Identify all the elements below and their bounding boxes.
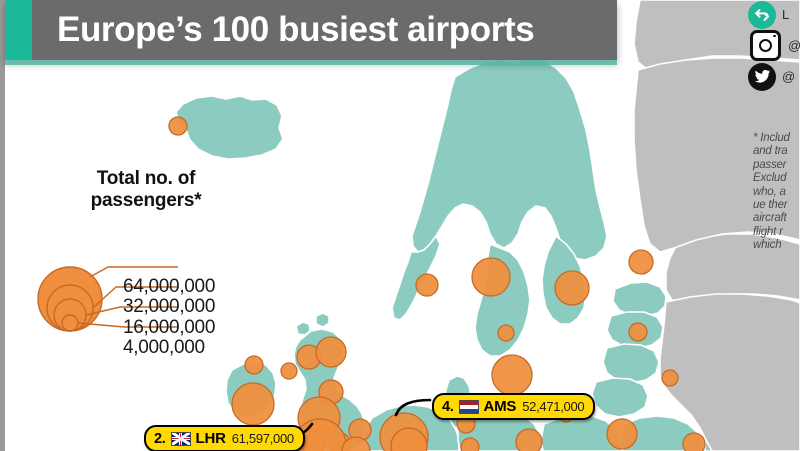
footnote-line: ue ther bbox=[753, 199, 800, 212]
footnote-line: who, a bbox=[753, 186, 800, 199]
legend-value: 4,000,000 bbox=[123, 338, 283, 359]
nl-flag-icon bbox=[459, 400, 479, 414]
social-label: @ bbox=[788, 38, 800, 53]
callout-passengers: 61,597,000 bbox=[232, 431, 294, 446]
footnote-line: passer bbox=[753, 159, 800, 172]
page-edge-strip bbox=[0, 0, 5, 451]
callout-passengers: 52,471,000 bbox=[522, 399, 584, 414]
title-banner: Europe’s 100 busiest airports bbox=[5, 0, 617, 60]
footnote-line: and tra bbox=[753, 145, 800, 158]
callout-rank: 2. bbox=[154, 431, 166, 447]
instagram-icon bbox=[750, 30, 781, 61]
legend-title: Total no. of passengers* bbox=[56, 168, 236, 213]
title-underline bbox=[5, 60, 617, 65]
footnote-line: Exclud bbox=[753, 172, 800, 185]
legend-title-line2: passengers* bbox=[56, 190, 236, 212]
share-globe-icon bbox=[748, 1, 776, 29]
legend-value: 32,000,000 bbox=[123, 297, 283, 318]
legend-value-list: 64,000,000 32,000,000 16,000,000 4,000,0… bbox=[123, 277, 283, 359]
footnote-line: aircraft bbox=[753, 212, 800, 225]
social-label: L bbox=[782, 7, 789, 22]
infographic-canvas: .land { fill: #8ccbc0; stroke: #ffffff; … bbox=[0, 0, 800, 451]
legend-title-line1: Total no. of bbox=[56, 168, 236, 190]
legend-value: 64,000,000 bbox=[123, 277, 283, 298]
footnote-line: which bbox=[753, 239, 800, 252]
footnote: * Includ and tra passer Exclud who, a ue… bbox=[753, 132, 800, 253]
legend: Total no. of passengers* 64,000,000 32,0… bbox=[28, 168, 278, 341]
callout-airport-code: LHR bbox=[196, 430, 226, 447]
footnote-line: flight r bbox=[753, 226, 800, 239]
footnote-line: * Includ bbox=[753, 132, 800, 145]
uk-flag-icon bbox=[171, 432, 191, 446]
social-label: @ bbox=[782, 69, 795, 84]
title-accent-bar bbox=[5, 0, 32, 60]
social-link-share[interactable]: L bbox=[748, 0, 800, 29]
callout-rank: 4. bbox=[442, 399, 454, 415]
callout-airport-code: AMS bbox=[484, 398, 517, 415]
social-link-twitter[interactable]: @ bbox=[748, 62, 800, 91]
social-link-instagram[interactable]: @ bbox=[748, 31, 800, 60]
legend-value: 16,000,000 bbox=[123, 318, 283, 339]
page-title: Europe’s 100 busiest airports bbox=[32, 10, 534, 50]
social-links: L @ @ bbox=[748, 0, 800, 93]
legend-bubble-scale: 64,000,000 32,000,000 16,000,000 4,000,0… bbox=[28, 221, 278, 341]
twitter-icon bbox=[748, 63, 776, 91]
callout-ams[interactable]: 4. AMS 52,471,000 bbox=[432, 393, 595, 420]
callout-lhr[interactable]: 2. LHR 61,597,000 bbox=[144, 425, 305, 451]
